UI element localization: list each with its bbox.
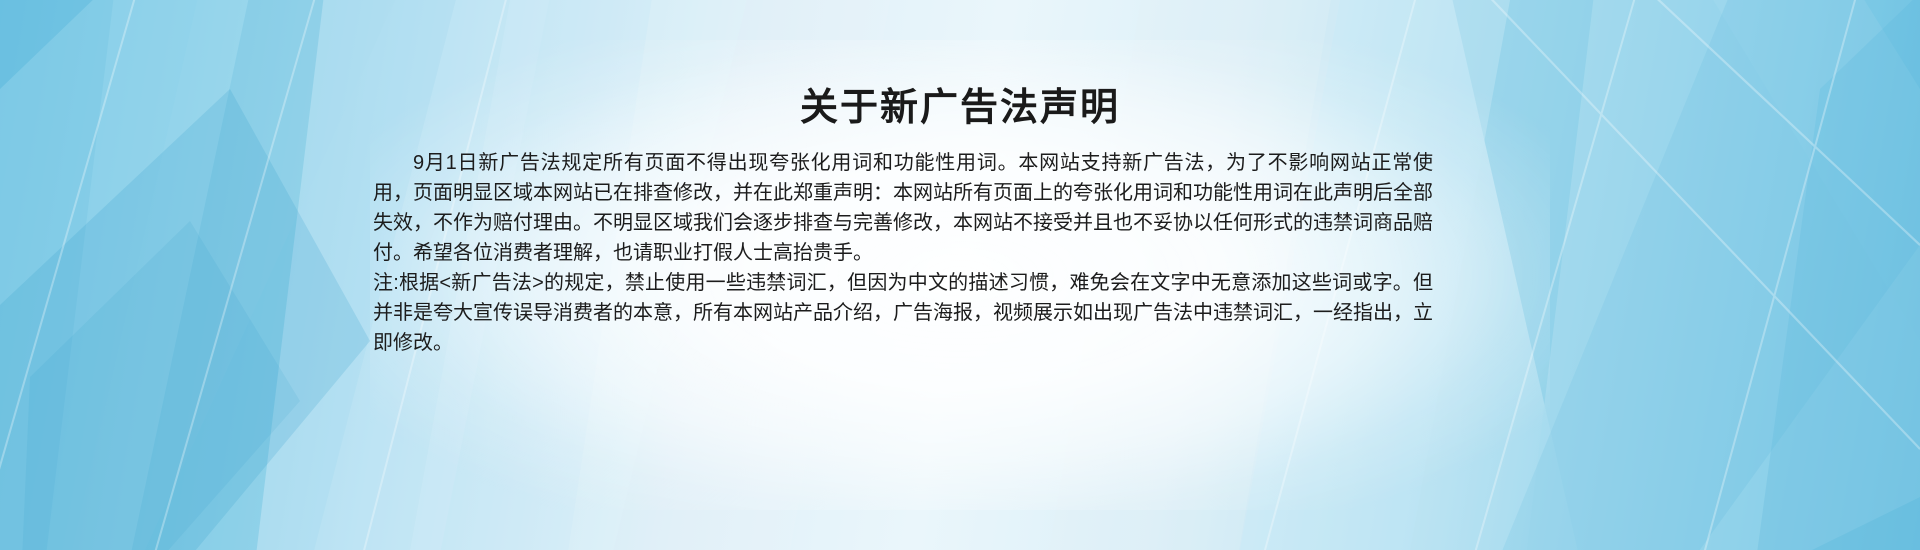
statement-body: 9月1日新广告法规定所有页面不得出现夸张化用词和功能性用词。本网站支持新广告法，…: [373, 148, 1433, 358]
banner-content: 关于新广告法声明 9月1日新广告法规定所有页面不得出现夸张化用词和功能性用词。本…: [0, 0, 1920, 550]
statement-paragraph-main: 9月1日新广告法规定所有页面不得出现夸张化用词和功能性用词。本网站支持新广告法，…: [373, 148, 1433, 268]
statement-paragraph-note: 注:根据<新广告法>的规定，禁止使用一些违禁词汇，但因为中文的描述习惯，难免会在…: [373, 268, 1433, 358]
advertising-law-statement-banner: 关于新广告法声明 9月1日新广告法规定所有页面不得出现夸张化用词和功能性用词。本…: [0, 0, 1920, 550]
page-title: 关于新广告法声明: [0, 85, 1920, 131]
